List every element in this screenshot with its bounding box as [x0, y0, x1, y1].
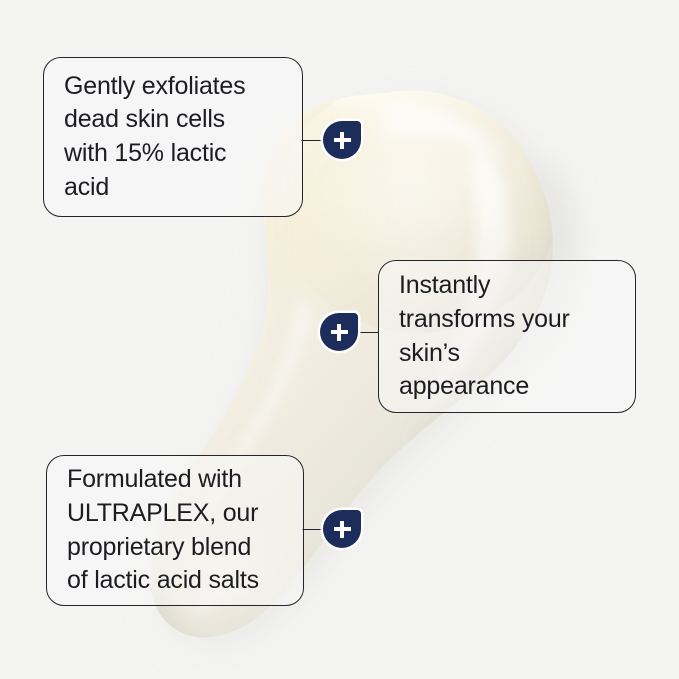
callout-ultraplex[interactable]: Formulated with ULTRAPLEX, our proprieta… — [46, 455, 304, 606]
callout-text-2: Instantly transforms your skin’s appeara… — [399, 269, 570, 404]
callout-exfoliates[interactable]: Gently exfoliates dead skin cells with 1… — [43, 57, 303, 217]
callout-transforms[interactable]: Instantly transforms your skin’s appeara… — [378, 260, 636, 413]
plus-glyph — [331, 324, 348, 341]
plus-icon-1[interactable] — [323, 121, 361, 159]
product-benefits-infographic: Gently exfoliates dead skin cells with 1… — [0, 0, 679, 679]
connector-line-2 — [355, 332, 379, 333]
plus-icon-2[interactable] — [320, 313, 358, 351]
callout-text-3: Formulated with ULTRAPLEX, our proprieta… — [67, 463, 259, 598]
plus-icon-3[interactable] — [323, 510, 361, 548]
connector-line-1 — [301, 140, 325, 141]
plus-glyph — [334, 132, 351, 149]
callout-text-1: Gently exfoliates dead skin cells with 1… — [64, 70, 245, 205]
plus-glyph — [334, 521, 351, 538]
